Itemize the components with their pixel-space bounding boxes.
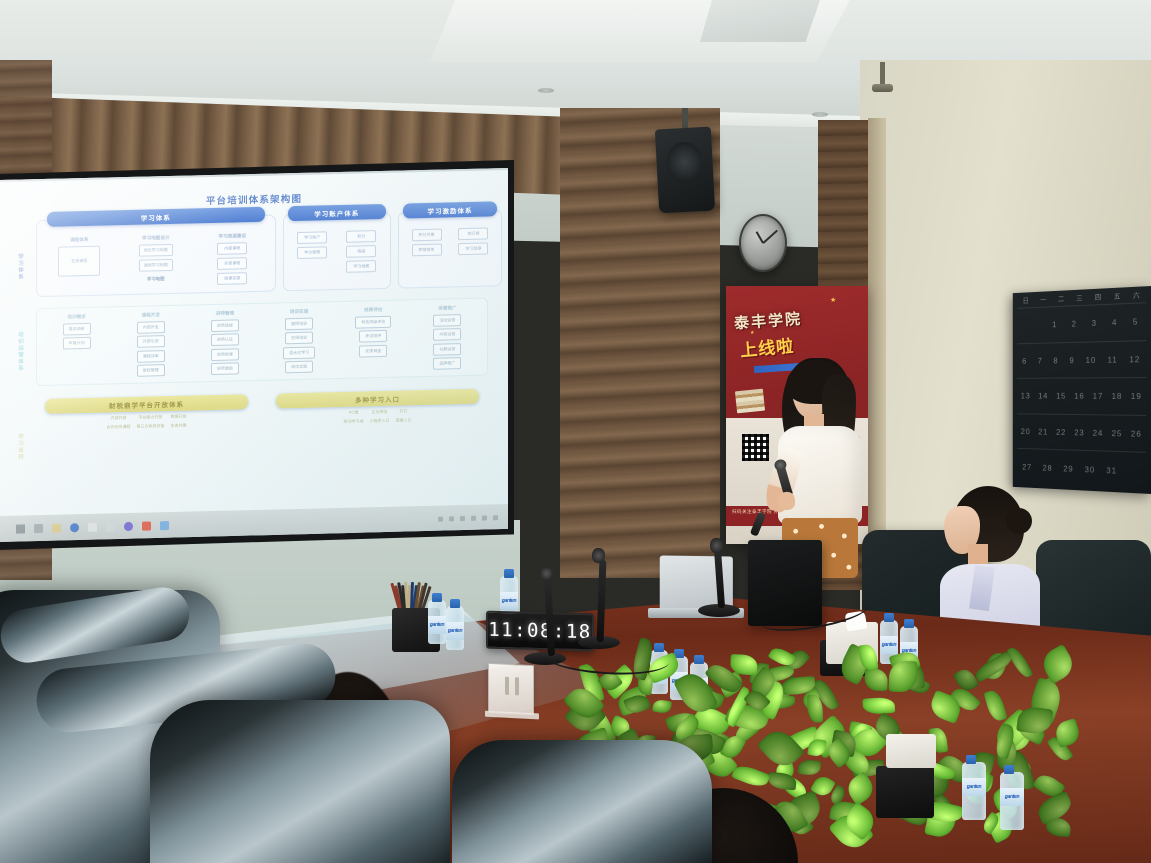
schedule-board-cell: 2: [1072, 319, 1077, 329]
slide-bottom-item: 生态共建: [171, 423, 187, 429]
slide-bottom-item: 小程序入口: [370, 418, 390, 424]
schedule-board-row: 6789101112: [1017, 340, 1146, 378]
attendee-hair-bun: [1006, 508, 1032, 534]
water-bottle: ganten: [1000, 772, 1024, 830]
slide-vertical-label-2: 培训运营体系: [16, 331, 24, 371]
browser-icon[interactable]: [70, 523, 79, 532]
slide-sub-column: 排行榜学习勋章: [452, 227, 495, 255]
ime-icon[interactable]: [482, 515, 487, 520]
schedule-board-weekday: 六: [1133, 291, 1140, 301]
slide-cell: 积分: [346, 230, 376, 243]
downlight: [538, 88, 554, 93]
pdf-icon[interactable]: [142, 521, 151, 530]
slide-process-title: 培训需求: [67, 314, 85, 320]
slide-bottom-item: PC端: [349, 410, 359, 416]
file-explorer-icon[interactable]: [52, 523, 61, 532]
wall-speaker-icon: [655, 127, 715, 214]
schedule-board-cell: 10: [1086, 355, 1096, 365]
clock-minute-hand: [762, 230, 777, 244]
downlight: [812, 112, 828, 117]
schedule-board-cell: 16: [1074, 391, 1084, 401]
schedule-board-cell: 24: [1093, 428, 1104, 438]
slide-sub-column: 学习资源建设内部课程外部课程微课资源: [196, 233, 269, 286]
slide-bottom-column: 平台能力开放第三方系统对接: [137, 414, 165, 430]
slide-bottom-section: 财税鼎学平台开放体系内容开放合作伙伴课程平台能力开放第三方系统对接数据开放生态共…: [36, 394, 257, 432]
slide-sub-column: 积分兑换荣誉榜单: [405, 228, 448, 256]
slide-section-header: 学习激励体系: [403, 201, 497, 218]
slide-process-item: 讲师认证: [211, 333, 239, 346]
slide-process-title: 运营推广: [438, 305, 456, 311]
schedule-board-cell: 6: [1022, 356, 1027, 365]
slide-process-item: 柯氏四级评估: [355, 315, 391, 328]
slide-sub-column: 课程体系在线课程: [43, 236, 116, 289]
schedule-board-row: 2728293031: [1017, 448, 1146, 490]
bottle-label: ganten: [446, 622, 464, 640]
banner-title: 泰丰学院: [733, 304, 862, 334]
slide-sub-title: 学习地图设计: [142, 235, 170, 242]
schedule-board-cell: 18: [1112, 391, 1123, 401]
slide-process-item: 讲师选拔: [211, 319, 239, 332]
slide-process-item: 混合式学习: [283, 346, 315, 359]
slide-process-column: 讲师管理讲师选拔讲师认证讲师授课讲师激励: [190, 310, 259, 376]
slide-section-header: 学习账户体系: [288, 204, 386, 221]
slide-cell: 学分管理: [297, 246, 327, 259]
slide-sub-column: 积分等级学习档案: [339, 230, 384, 273]
wall-clock: [739, 214, 787, 272]
slide-sub-column: 学习账户学分管理: [290, 231, 335, 274]
slide-process-item: 外部引进: [137, 335, 165, 348]
slide-bottom-item: 钉钉: [400, 408, 408, 414]
schedule-board-row: 20212223242526: [1017, 413, 1146, 452]
volume-icon[interactable]: [460, 516, 465, 521]
slide-process-item: 内部开发: [137, 321, 165, 334]
pen-icon[interactable]: [438, 516, 443, 521]
slide-bottom-item: 移动学习端: [344, 418, 364, 424]
windows-start-icon[interactable]: [16, 524, 25, 533]
foreground-chair: [452, 740, 712, 863]
slide-process-item: 面授培训: [285, 317, 313, 330]
slide-process-item: 在线培训: [285, 332, 313, 345]
schedule-board-cell: 22: [1056, 427, 1066, 437]
schedule-board-cell: 26: [1131, 429, 1142, 439]
slide-cell: 岗位学习地图: [139, 244, 173, 257]
bottle-label: ganten: [962, 778, 986, 796]
schedule-board-cell: 11: [1108, 354, 1118, 364]
schedule-board-cell: 13: [1021, 391, 1031, 400]
slide-bottom-item: 合作伙伴课程: [107, 424, 131, 431]
slide-section-1: 学习体系课程体系在线课程学习地图设计岗位学习地图通用学习地图学习地图学习资源建设…: [36, 215, 276, 298]
schedule-board-cell: 20: [1021, 427, 1031, 437]
slide-process-item: 讲师授课: [211, 348, 239, 361]
search-icon[interactable]: [34, 523, 43, 532]
desk-microphone-head: [592, 548, 605, 563]
slide-bottom-item: 平台能力开放: [139, 414, 163, 421]
name-card-holder: [488, 663, 534, 715]
slide-process-item: 讲师激励: [211, 362, 239, 375]
slide-sub-title: 课程体系: [70, 237, 88, 243]
slide-process-item: 反馈调查: [359, 344, 387, 357]
slide-process-item: 岗位实践: [285, 361, 313, 374]
projection-screen[interactable]: 平台培训体系架构图 新建标签页 平台培训体系架构图 学习体系 培训运营体系 学习…: [0, 168, 508, 542]
slide-cell: 学习账户: [297, 231, 327, 244]
slide-process-item: 考试测评: [359, 330, 387, 343]
slide-bottom-item: 直播入口: [396, 417, 412, 423]
slide-top-sections: 学习体系课程体系在线课程学习地图设计岗位学习地图通用学习地图学习地图学习资源建设…: [14, 209, 494, 297]
slide-cell: 等级: [346, 245, 376, 258]
slide-cell: 微课资源: [217, 272, 247, 285]
conference-room-photo: 日一二三四五六 12345678910111213141516171819202…: [0, 0, 1151, 863]
schedule-board-cell: 7: [1038, 356, 1043, 366]
slide-process-item: 社群运营: [433, 343, 461, 356]
schedule-board-weekday: 一: [1040, 295, 1046, 305]
schedule-board-cell: 30: [1085, 464, 1095, 474]
plant-leaf: [798, 758, 822, 775]
desk-microphone-head: [710, 538, 723, 553]
schedule-board-weekday: 日: [1023, 296, 1029, 306]
pendant-rod: [880, 62, 885, 86]
desk-microphone-head: [540, 566, 553, 581]
plant-leaf: [983, 689, 1007, 723]
slide-cell: 学习勋章: [458, 242, 488, 255]
slide-cell: 学习档案: [346, 260, 376, 273]
slide-bottom-column: 企业微信小程序入口: [370, 409, 390, 424]
schedule-board-cell: 14: [1038, 391, 1048, 400]
slide-process-item: 内容运营: [433, 328, 461, 341]
schedule-board-cell: 12: [1129, 354, 1140, 364]
bottle-label: ganten: [428, 616, 446, 634]
schedule-board-cell: 4: [1112, 318, 1117, 328]
slide-process-item: 活动运营: [433, 314, 461, 327]
slide-cell: 通用学习地图: [139, 259, 173, 272]
schedule-board-cell: 5: [1133, 317, 1138, 327]
schedule-board-cell: 29: [1063, 463, 1073, 473]
foreground-chair: [150, 700, 450, 863]
slide-section-2: 学习账户体系学习账户学分管理积分等级学习档案: [283, 212, 391, 292]
schedule-board-row: 13141516171819: [1017, 377, 1146, 415]
schedule-board-cell: 8: [1053, 356, 1058, 366]
schedule-board-cell: 27: [1022, 462, 1032, 472]
schedule-board-cell: 19: [1131, 391, 1142, 401]
slide-middle-band: 培训需求需求调研年度计划课程开发内部开发外部引进课程评审版权管理讲师管理讲师选拔…: [36, 297, 488, 386]
schedule-board-cell: 3: [1092, 318, 1097, 328]
slide-process-item: 年度计划: [63, 337, 91, 350]
slide-vertical-label-1: 学习体系: [16, 253, 24, 280]
slide-bottom-column: PC端移动学习端: [344, 409, 364, 424]
schedule-board-cell: 1: [1052, 320, 1057, 330]
slide-process-item: 版权管理: [137, 364, 165, 377]
slide-bottom-item: 企业微信: [372, 409, 388, 415]
slide-bottom-sections: 财税鼎学平台开放体系内容开放合作伙伴课程平台能力开放第三方系统对接数据开放生态共…: [14, 388, 494, 432]
media-player-icon[interactable]: [124, 521, 133, 530]
camera-icon[interactable]: [88, 522, 97, 531]
slide-process-column: 培训需求需求调研年度计划: [42, 313, 111, 379]
plant-leaf: [863, 697, 895, 715]
slide-bottom-item: 内容开放: [111, 415, 127, 421]
plant-leaf: [865, 669, 889, 691]
plant-leaf: [843, 771, 878, 806]
water-bottle: ganten: [428, 600, 446, 644]
office-icon[interactable]: [160, 521, 169, 530]
schedule-board-weekday: 二: [1058, 294, 1064, 304]
mail-icon[interactable]: [106, 522, 115, 531]
ceiling-vent: [700, 0, 820, 42]
schedule-board-weekday: 四: [1095, 292, 1101, 302]
name-card-text: [505, 677, 509, 695]
water-bottle: ganten: [446, 606, 464, 650]
plant-leaf: [1006, 644, 1034, 680]
battery-icon[interactable]: [471, 515, 476, 520]
slide-process-column: 培训实施面授培训在线培训混合式学习岗位实践: [265, 308, 334, 374]
slide-process-title: 课程开发: [142, 312, 160, 318]
schedule-board-cell: 15: [1056, 391, 1066, 401]
schedule-board-cell: 17: [1093, 391, 1104, 401]
slide-process-item: 品牌推广: [433, 357, 461, 370]
slide-process-column: 运营推广活动运营内容运营社群运营品牌推广: [413, 305, 482, 371]
slide-bottom-item: 第三方系统对接: [137, 423, 165, 430]
slide-process-title: 培训实施: [290, 309, 308, 315]
bottle-label: ganten: [500, 592, 518, 610]
slide-bottom-column: 内容开放合作伙伴课程: [107, 415, 131, 431]
plant-leaf: [652, 698, 672, 714]
slide-process-item: 课程评审: [137, 350, 165, 363]
bottle-label: ganten: [1000, 788, 1024, 806]
schedule-board-cell: 25: [1112, 428, 1123, 438]
slide-cell: 排行榜: [458, 227, 488, 240]
system-tray[interactable]: [438, 515, 498, 521]
slide-cell: 外部课程: [217, 257, 247, 270]
schedule-board-weekday: 五: [1114, 292, 1121, 302]
notification-icon[interactable]: [493, 515, 498, 520]
slide-cell: 在线课程: [58, 246, 100, 277]
slide-process-title: 讲师管理: [216, 310, 234, 316]
slide-process-column: 课程开发内部开发外部引进课程评审版权管理: [116, 312, 185, 378]
schedule-board: 日一二三四五六 12345678910111213141516171819202…: [1013, 286, 1151, 494]
slide-caption: 学习地图: [147, 276, 165, 282]
slide-content: 平台培训体系架构图 学习体系 培训运营体系 学习支持 学习体系课程体系在线课程学…: [0, 170, 508, 518]
slide-bottom-column: 数据开放生态共建: [171, 414, 187, 429]
slide-section-3: 学习激励体系积分兑换荣誉榜单排行榜学习勋章: [398, 209, 502, 288]
slide-bottom-column: 钉钉直播入口: [396, 408, 412, 423]
slide-bottom-section: 多种学习入口PC端移动学习端企业微信小程序入口钉钉直播入口: [267, 388, 488, 426]
water-bottle: ganten: [962, 762, 986, 820]
slide-cell: 积分兑换: [412, 229, 442, 242]
slide-process-item: 需求调研: [63, 322, 91, 335]
slide-process-column: 效果评估柯氏四级评估考试测评反馈调查: [339, 306, 408, 372]
star-icon: ★: [830, 296, 836, 304]
schedule-board-cell: 28: [1043, 463, 1053, 473]
schedule-board-weekday: 三: [1076, 293, 1082, 303]
slide-cell: 内部课程: [217, 242, 247, 255]
tissue-box: [886, 734, 936, 768]
schedule-board-row: 12345: [1017, 302, 1146, 343]
schedule-board-cell: 31: [1106, 465, 1117, 475]
slide-cell: 荣誉榜单: [412, 244, 442, 257]
schedule-board-cell: 9: [1069, 355, 1074, 365]
slide-bottom-item: 数据开放: [171, 414, 187, 420]
equipment-box: [876, 766, 934, 818]
slide-vertical-label-3: 学习支持: [16, 433, 24, 460]
schedule-board-cell: 21: [1038, 427, 1048, 437]
slide-sub-title: 学习资源建设: [219, 233, 247, 240]
pendant-light: [872, 84, 893, 92]
network-icon[interactable]: [449, 516, 454, 521]
slide-process-title: 效果评估: [364, 307, 382, 313]
slide-sub-column: 学习地图设计岗位学习地图通用学习地图学习地图: [120, 234, 193, 287]
name-card-text: [515, 677, 519, 695]
schedule-board-cell: 23: [1074, 428, 1084, 438]
